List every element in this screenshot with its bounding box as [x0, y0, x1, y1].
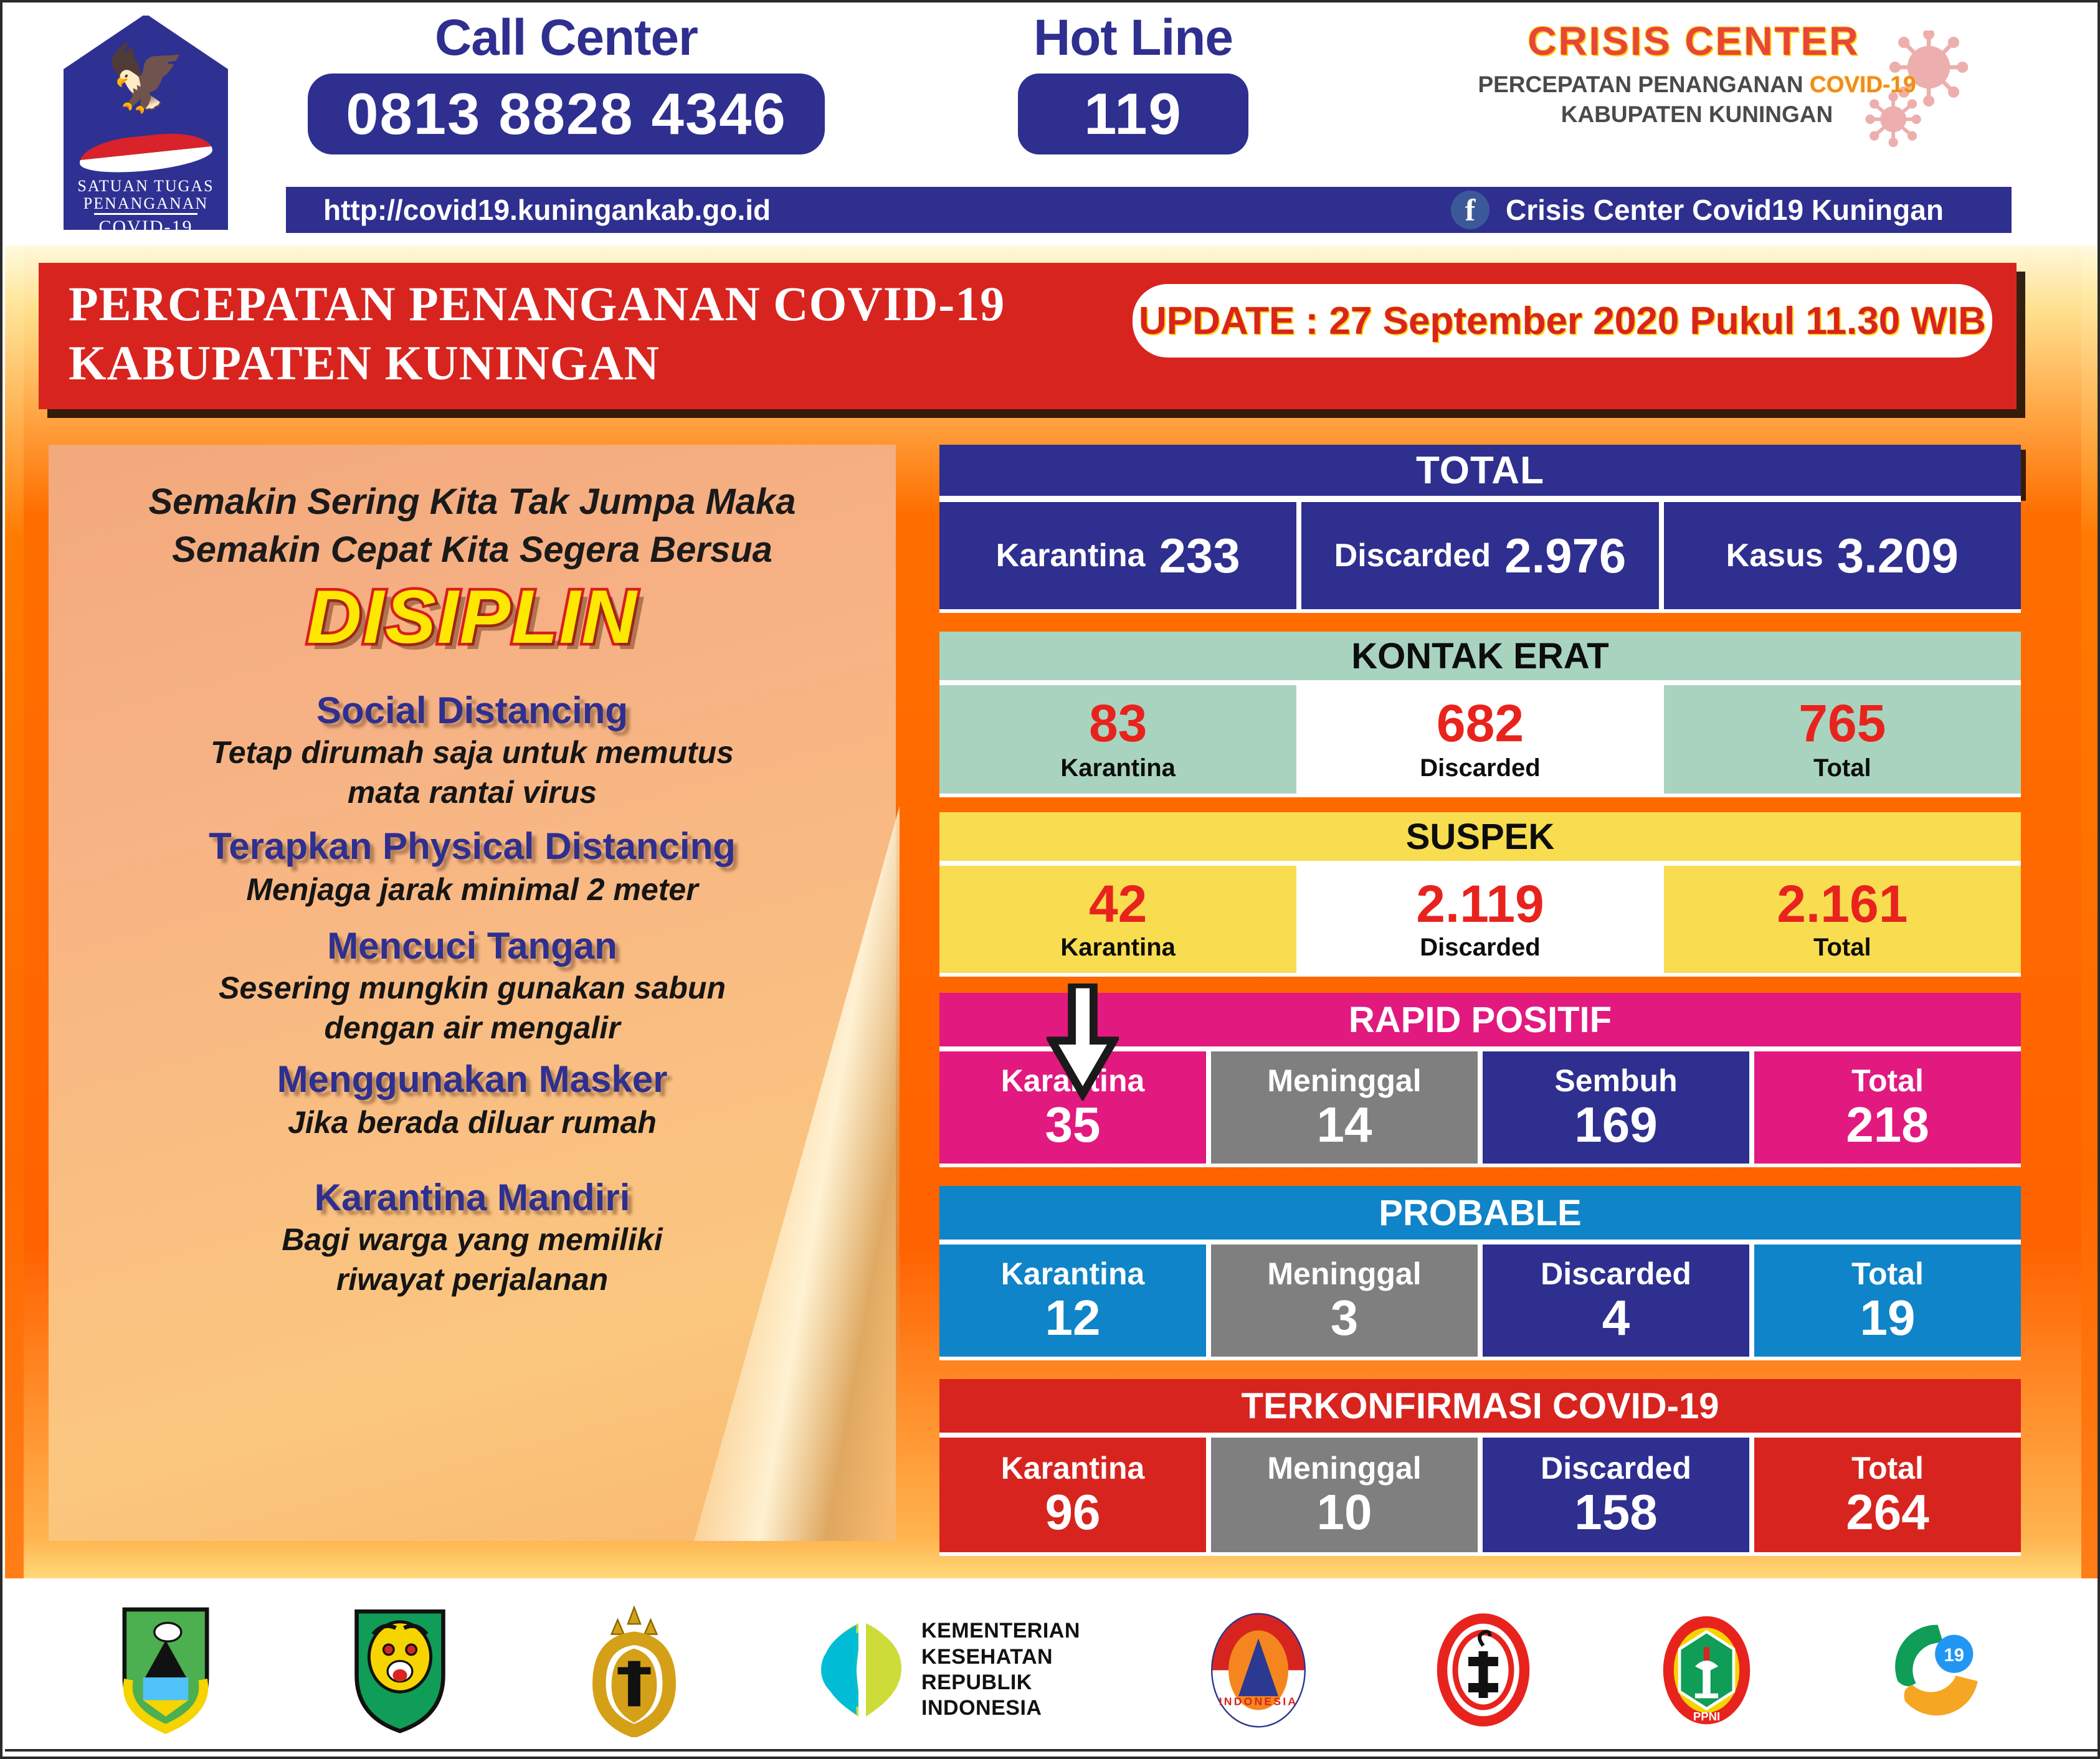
prevention-panel: Semakin Sering Kita Tak Jumpa Maka Semak… [49, 445, 896, 1541]
slogan-line-1: Semakin Sering Kita Tak Jumpa Maka [49, 478, 896, 526]
stat-label: Discarded [1541, 1258, 1691, 1289]
stat-cell-total-karantina: Karantina 233 [939, 502, 1296, 609]
stat-cell-probable-meninggal: Meninggal 3 [1211, 1245, 1478, 1357]
stat-block-total: TOTAL Karantina 233 Discarded 2.976 Kasu… [939, 445, 2021, 613]
call-center-title: Call Center [286, 9, 847, 67]
garuda-icon: 🦅 [105, 46, 186, 111]
stat-value: 42 [1089, 878, 1147, 930]
stat-label: Karantina [1060, 754, 1176, 782]
stat-block-kontak-erat: KONTAK ERAT 83 Karantina 682 Discarded 7… [939, 632, 2021, 797]
stat-label: Karantina [996, 537, 1146, 574]
stat-label: Total [1851, 1258, 1924, 1289]
hotline-number: 119 [1084, 80, 1182, 148]
stat-cells-suspek: 42 Karantina 2.119 Discarded 2.161 Total [939, 861, 2021, 977]
emblem-line-1: SATUAN TUGAS [62, 177, 230, 196]
header: 🦅 SATUAN TUGAS PENANGANAN COVID-19 Call … [2, 2, 2098, 245]
crisis-center-logo-block: CRISIS CENTER PERCEPATAN PENANGANAN COVI… [1454, 18, 2015, 149]
stat-value: 12 [1045, 1293, 1101, 1343]
stat-value: 169 [1574, 1100, 1657, 1150]
stat-label: Meninggal [1267, 1258, 1421, 1289]
stat-value: 3 [1331, 1293, 1359, 1343]
stat-value: 96 [1045, 1487, 1101, 1537]
prevention-item-sub-4: Bagi warga yang memiliki riwayat perjala… [49, 1220, 896, 1299]
prevention-item-sub-2: Sesering mungkin gunakan sabun dengan ai… [49, 968, 896, 1048]
body-inner-background: PERCEPATAN PENANGANAN COVID-19 KABUPATEN… [24, 245, 2081, 1578]
stat-label: Karantina [1060, 934, 1176, 962]
stat-label: Karantina [1001, 1453, 1145, 1484]
stat-label: Total [1813, 754, 1871, 782]
stat-header-terkonfirmasi: TERKONFIRMASI COVID-19 [939, 1379, 2021, 1433]
stat-cell-probable-discarded: Discarded 4 [1483, 1245, 1749, 1357]
prevention-item-sub-2-line-2: dengan air mengalir [49, 1008, 896, 1048]
stat-cell-probable-karantina: Karantina 12 [939, 1245, 1206, 1357]
stat-value: 3.209 [1837, 528, 1959, 584]
statistics-panel: TOTAL Karantina 233 Discarded 2.976 Kasu… [939, 445, 2021, 1585]
stat-cell-rapid-total: Total 218 [1754, 1051, 2021, 1164]
main-title-line-1: PERCEPATAN PENANGANAN COVID-19 [69, 274, 1005, 333]
kemenkes-line-4: INDONESIA [921, 1696, 1042, 1720]
polri-logo [581, 1603, 687, 1737]
main-title-text: PERCEPATAN PENANGANAN COVID-19 KABUPATEN… [69, 274, 1005, 392]
stat-cell-total-discarded: Discarded 2.976 [1301, 502, 1658, 609]
stat-value: 14 [1317, 1100, 1372, 1150]
stat-label: Discarded [1334, 537, 1491, 574]
prevention-item-sub-4-line-1: Bagi warga yang memiliki [49, 1220, 896, 1259]
hotline-block: Hot Line 119 [971, 9, 1295, 154]
prevention-item-sub-1-line-1: Menjaga jarak minimal 2 meter [49, 870, 896, 909]
hotline-title: Hot Line [971, 9, 1295, 67]
prevention-item-sub-0: Tetap dirumah saja untuk memutus mata ra… [49, 733, 896, 812]
stat-cell-terkonfirmasi-meninggal: Meninggal 10 [1211, 1438, 1478, 1552]
prevention-item-head-3: Menggunakan Masker [49, 1058, 896, 1101]
infographic-poster: 🦅 SATUAN TUGAS PENANGANAN COVID-19 Call … [0, 0, 2100, 1759]
satgas-covid19-emblem: 🦅 SATUAN TUGAS PENANGANAN COVID-19 [62, 14, 230, 232]
stat-cell-total-kasus: Kasus 3.209 [1664, 502, 2021, 609]
stat-cells-probable: Karantina 12 Meninggal 3 Discarded 4 T [939, 1240, 2021, 1360]
covid19-gotong-royong-logo: 19 [1883, 1616, 1992, 1725]
facebook-block[interactable]: f Crisis Center Covid19 Kuningan [1451, 191, 1944, 229]
stat-label: Sembuh [1554, 1065, 1677, 1096]
crisis-center-subtitle: PERCEPATAN PENANGANAN COVID-19 [1466, 72, 1927, 98]
website-url[interactable]: http://covid19.kuningankab.go.id [323, 193, 771, 227]
stat-label: Total [1851, 1453, 1924, 1484]
stat-cells-kontak-erat: 83 Karantina 682 Discarded 765 Total [939, 680, 2021, 797]
stat-label: Meninggal [1267, 1065, 1421, 1096]
prevention-item-head-4: Karantina Mandiri [49, 1176, 896, 1219]
slogan-quote: Semakin Sering Kita Tak Jumpa Maka Semak… [49, 478, 896, 574]
stat-cell-suspek-discarded: 2.119 Discarded [1301, 866, 1658, 973]
emblem-divider [94, 213, 197, 215]
stat-value: 2.161 [1777, 878, 1908, 930]
stat-label: Meninggal [1267, 1453, 1421, 1484]
prevention-item-head-1: Terapkan Physical Distancing [49, 825, 896, 868]
stat-label: Total [1813, 934, 1871, 962]
facebook-icon: f [1451, 191, 1489, 229]
stat-value: 218 [1846, 1100, 1929, 1150]
stat-label: Discarded [1420, 934, 1540, 962]
stat-cell-terkonfirmasi-total: Total 264 [1754, 1438, 2021, 1552]
prevention-item-sub-2-line-1: Sesering mungkin gunakan sabun [49, 968, 896, 1008]
update-timestamp: UPDATE : 27 September 2020 Pukul 11.30 W… [1139, 299, 1986, 343]
stat-cell-kontak-karantina: 83 Karantina [939, 685, 1296, 794]
kemenkes-line-2: KESEHATAN [921, 1645, 1053, 1669]
emblem-line-2: PENANGANAN [62, 194, 230, 213]
call-center-block: Call Center 0813 8828 4346 [286, 9, 847, 154]
stat-label: Kasus [1726, 537, 1823, 574]
svg-text:INDONESIA: INDONESIA [1219, 1695, 1298, 1707]
stat-value: 2.976 [1504, 528, 1626, 584]
prevention-item-sub-0-line-1: Tetap dirumah saja untuk memutus [49, 733, 896, 772]
main-title-line-2: KABUPATEN KUNINGAN [69, 333, 1005, 392]
facebook-page-name: Crisis Center Covid19 Kuningan [1506, 193, 1944, 227]
kabupaten-kuningan-logo [113, 1603, 219, 1737]
stat-cell-terkonfirmasi-discarded: Discarded 158 [1483, 1438, 1749, 1552]
crisis-subtitle-a: PERCEPATAN PENANGANAN [1478, 72, 1809, 97]
page-curl-decoration [694, 806, 900, 1541]
stat-cell-rapid-meninggal: Meninggal 14 [1211, 1051, 1478, 1164]
prevention-item-sub-0-line-2: mata rantai virus [49, 772, 896, 812]
body-background: PERCEPATAN PENANGANAN COVID-19 KABUPATEN… [5, 245, 2100, 1578]
stat-value: 4 [1602, 1293, 1630, 1343]
stat-header-probable: PROBABLE [939, 1186, 2021, 1240]
svg-text:PPNI: PPNI [1693, 1710, 1720, 1723]
stat-label: Total [1851, 1065, 1924, 1096]
stat-value: 2.119 [1416, 878, 1544, 930]
crisis-subtitle-covid: COVID-19 [1810, 72, 1916, 97]
down-arrow-icon [1047, 984, 1119, 1101]
prevention-item-sub-1: Menjaga jarak minimal 2 meter [49, 870, 896, 909]
url-bar: http://covid19.kuningankab.go.id f Crisi… [286, 187, 2012, 233]
kemenkes-line-1: KEMENTERIAN [921, 1619, 1080, 1643]
prevention-item-head-0: Social Distancing [49, 689, 896, 732]
stat-cell-kontak-discarded: 682 Discarded [1301, 685, 1658, 794]
stat-block-probable: PROBABLE Karantina 12 Meninggal 3 Discar… [939, 1186, 2021, 1360]
stat-value: 682 [1437, 697, 1524, 749]
prevention-item-sub-3-line-1: Jika berada diluar rumah [49, 1102, 896, 1142]
partner-logos-footer: KEMENTERIAN KESEHATAN REPUBLIK INDONESIA… [5, 1581, 2100, 1759]
emblem-line-3: COVID-19 [62, 217, 230, 238]
prevention-item-sub-3: Jika berada diluar rumah [49, 1102, 896, 1142]
idi-logo [1437, 1611, 1530, 1729]
call-center-number: 0813 8828 4346 [346, 80, 787, 148]
kemenkes-label: KEMENTERIAN KESEHATAN REPUBLIK INDONESIA [921, 1618, 1080, 1722]
stat-cell-suspek-karantina: 42 Karantina [939, 866, 1296, 973]
prevention-item-head-2: Mencuci Tangan [49, 924, 896, 967]
stat-cell-kontak-total: 765 Total [1664, 685, 2021, 794]
stat-header-suspek: SUSPEK [939, 812, 2021, 861]
crisis-center-regency: KABUPATEN KUNINGAN [1466, 102, 1927, 128]
stat-value: 10 [1317, 1487, 1372, 1537]
stat-cells-total: Karantina 233 Discarded 2.976 Kasus 3.20… [939, 496, 2021, 613]
stat-label: Karantina [1001, 1258, 1145, 1289]
prevention-item-sub-4-line-2: riwayat perjalanan [49, 1259, 896, 1299]
covid19-number: 19 [1944, 1645, 1964, 1665]
disiplin-headline: DISIPLIN [49, 573, 896, 660]
kemenkes-logo: KEMENTERIAN KESEHATAN REPUBLIK INDONESIA [815, 1614, 1080, 1726]
ppni-logo: PPNI [1658, 1610, 1755, 1731]
stat-header-total: TOTAL [939, 445, 2021, 496]
stat-cell-terkonfirmasi-karantina: Karantina 96 [939, 1438, 1206, 1552]
stat-label: Discarded [1541, 1453, 1691, 1484]
stat-value: 264 [1846, 1487, 1929, 1537]
stat-block-suspek: SUSPEK 42 Karantina 2.119 Discarded 2.16… [939, 812, 2021, 977]
stat-cell-rapid-sembuh: Sembuh 169 [1483, 1051, 1749, 1164]
call-center-pill[interactable]: 0813 8828 4346 [308, 73, 825, 154]
stat-value: 233 [1159, 528, 1240, 584]
stat-cell-suspek-total: 2.161 Total [1664, 866, 2021, 973]
footer-divider [5, 1749, 2100, 1752]
kodam-siliwangi-logo [347, 1603, 453, 1737]
stat-value: 158 [1574, 1487, 1657, 1537]
crisis-center-title: CRISIS CENTER [1476, 18, 1912, 64]
stat-block-terkonfirmasi: TERKONFIRMASI COVID-19 Karantina 96 Meni… [939, 1379, 2021, 1556]
stat-cell-probable-total: Total 19 [1754, 1245, 2021, 1357]
stat-value: 83 [1089, 697, 1147, 749]
stat-cells-terkonfirmasi: Karantina 96 Meninggal 10 Discarded 158 [939, 1433, 2021, 1556]
stat-value: 765 [1798, 697, 1886, 749]
bnpb-logo: INDONESIA [1209, 1610, 1308, 1731]
hotline-pill[interactable]: 119 [1018, 73, 1248, 154]
stat-value: 19 [1860, 1293, 1916, 1343]
stat-header-kontak-erat: KONTAK ERAT [939, 632, 2021, 680]
slogan-line-2: Semakin Cepat Kita Segera Bersua [49, 526, 896, 574]
kemenkes-line-3: REPUBLIK [921, 1671, 1032, 1694]
stat-value: 35 [1045, 1100, 1101, 1150]
stat-label: Discarded [1420, 754, 1540, 782]
update-timestamp-box: UPDATE : 27 September 2020 Pukul 11.30 W… [1133, 284, 1992, 358]
